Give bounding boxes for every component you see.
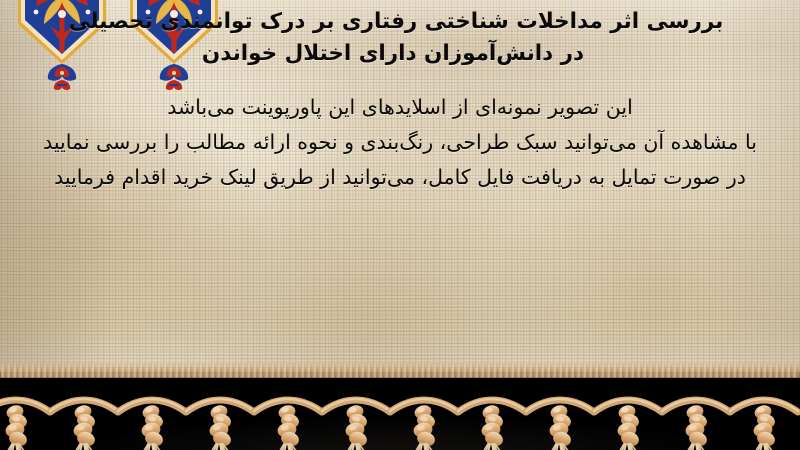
slide-body: این تصویر نمونه‌ای از اسلایدهای این پاور… [14,90,786,195]
slide-body-line-3: در صورت تمایل به دریافت فایل کامل، می‌تو… [14,160,786,195]
slide-canvas: بررسی اثر مداخلات شناختی رفتاری بر درک ت… [0,0,800,450]
slide-title: بررسی اثر مداخلات شناختی رفتاری بر درک ت… [14,6,786,70]
carpet-fringe-tassels [0,354,800,450]
slide-body-line-2: با مشاهده آن می‌توانید سبک طراحی، رنگ‌بن… [14,125,786,160]
slide-text-block: بررسی اثر مداخلات شناختی رفتاری بر درک ت… [0,0,800,195]
slide-title-line-2: در دانش‌آموزان دارای اختلال خواندن [14,38,772,70]
slide-body-line-1: این تصویر نمونه‌ای از اسلایدهای این پاور… [14,90,786,125]
slide-title-line-1: بررسی اثر مداخلات شناختی رفتاری بر درک ت… [14,6,772,38]
